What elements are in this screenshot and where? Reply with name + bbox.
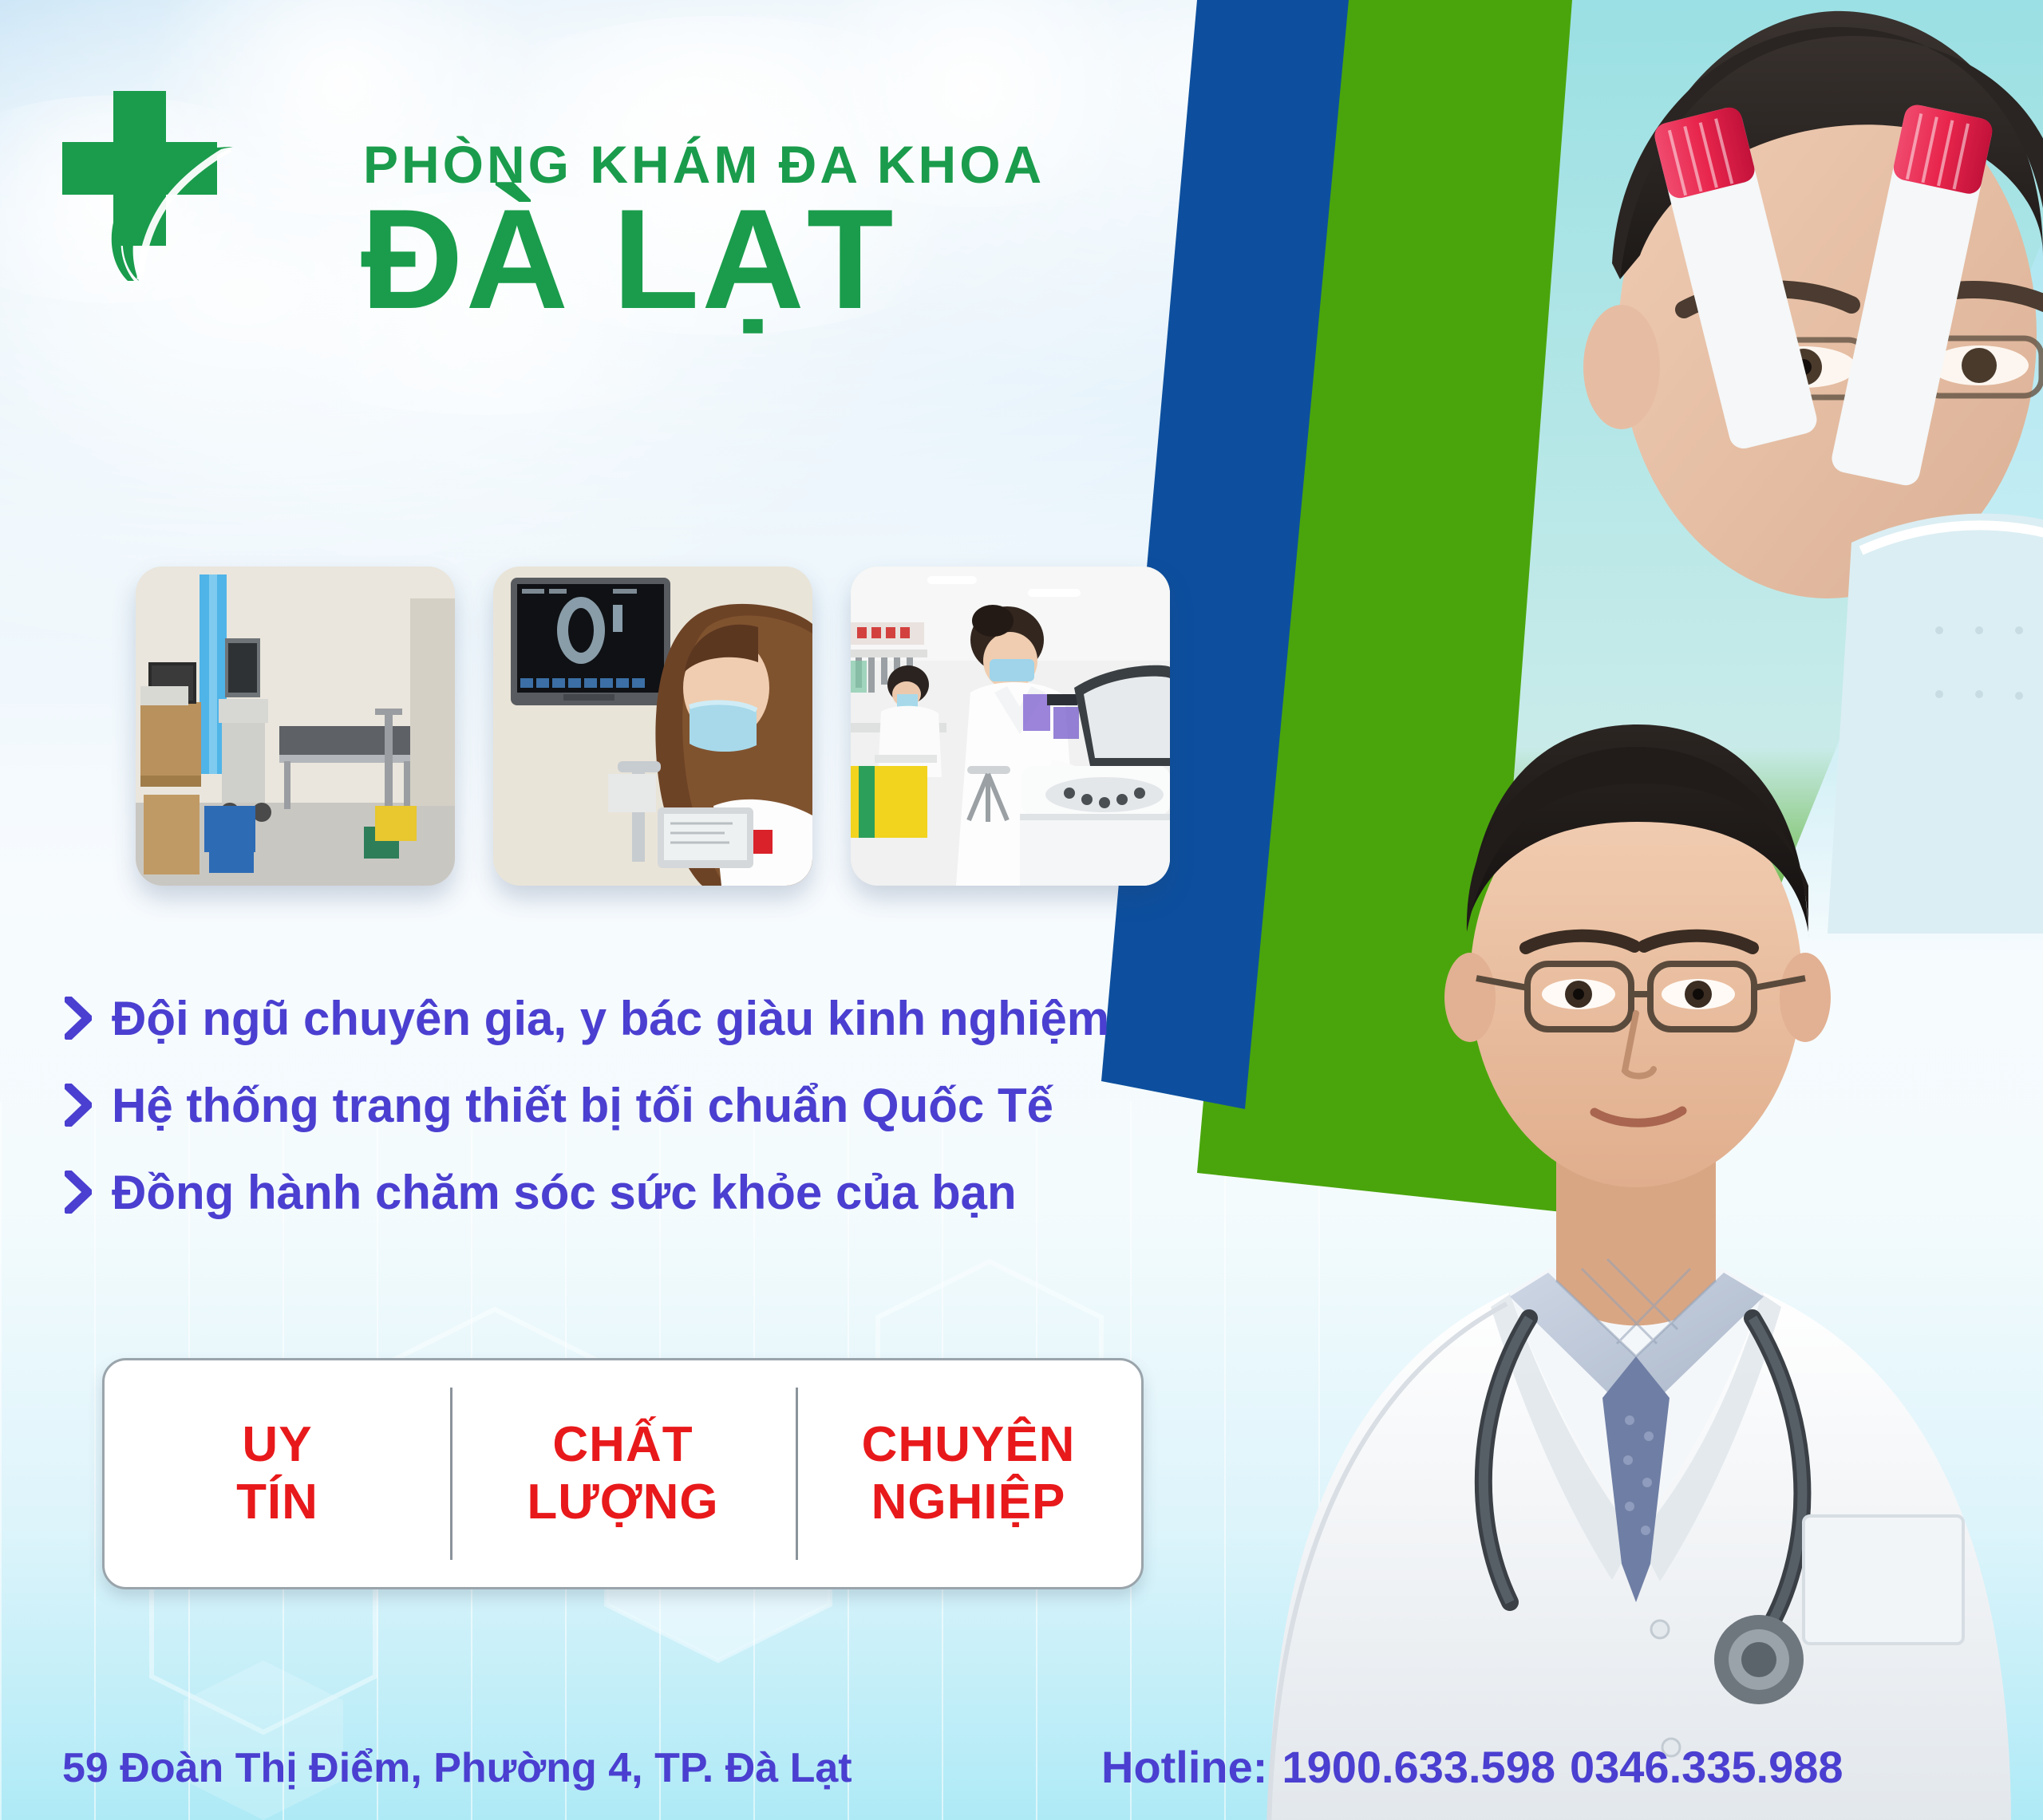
chevron-right-icon: [62, 1080, 94, 1130]
value-line: CHẤT: [552, 1419, 693, 1471]
photo-laboratory: [851, 567, 1170, 886]
list-item: Đội ngũ chuyên gia, y bác giàu kinh nghi…: [62, 993, 1100, 1045]
value-line: LƯỢNG: [527, 1476, 718, 1529]
feature-bullet-list: Đội ngũ chuyên gia, y bác giàu kinh nghi…: [62, 993, 1100, 1253]
value-line: UY: [242, 1419, 312, 1471]
value-line: NGHIỆP: [871, 1476, 1066, 1529]
hotline-block: Hotline:1900.633.5980346.335.988: [1101, 1741, 1843, 1793]
bullet-label: Đồng hành chăm sóc sức khỏe của bạn: [112, 1167, 1017, 1219]
bullet-label: Đội ngũ chuyên gia, y bác giàu kinh nghi…: [112, 993, 1109, 1045]
hotline-number-primary[interactable]: 1900.633.598: [1282, 1742, 1555, 1792]
value-cell-chat-luong: CHẤT LƯỢNG: [450, 1360, 796, 1587]
clinic-advertisement-banner: PHÒNG KHÁM ĐA KHOA ĐÀ LẠT: [0, 0, 2043, 1820]
list-item: Đồng hành chăm sóc sức khỏe của bạn: [62, 1167, 1100, 1219]
chevron-right-icon: [62, 993, 94, 1043]
chevron-right-icon: [62, 1167, 94, 1217]
value-cell-chuyen-nghiep: CHUYÊN NGHIỆP: [796, 1360, 1141, 1587]
green-cross-leaf-icon: [45, 86, 252, 282]
clinic-logo: [45, 86, 252, 282]
bullet-label: Hệ thống trang thiết bị tối chuẩn Quốc T…: [112, 1080, 1053, 1132]
value-line: TÍN: [236, 1476, 318, 1529]
value-cell-uy-tin: UY TÍN: [105, 1360, 450, 1587]
list-item: Hệ thống trang thiết bị tối chuẩn Quốc T…: [62, 1080, 1100, 1132]
clinic-address: 59 Đoàn Thị Điểm, Phường 4, TP. Đà Lạt: [62, 1744, 852, 1792]
hotline-number-secondary[interactable]: 0346.335.988: [1570, 1742, 1843, 1792]
photo-exam-room: [136, 567, 455, 886]
value-line: CHUYÊN: [862, 1419, 1076, 1471]
hotline-label: Hotline:: [1101, 1742, 1267, 1792]
facility-photo-strip: [136, 567, 1170, 886]
value-proposition-box: UY TÍN CHẤT LƯỢNG CHUYÊN NGHIỆP: [102, 1358, 1144, 1589]
brand-title: ĐÀ LẠT: [361, 188, 896, 330]
photo-ultrasound-scan: [493, 567, 812, 886]
